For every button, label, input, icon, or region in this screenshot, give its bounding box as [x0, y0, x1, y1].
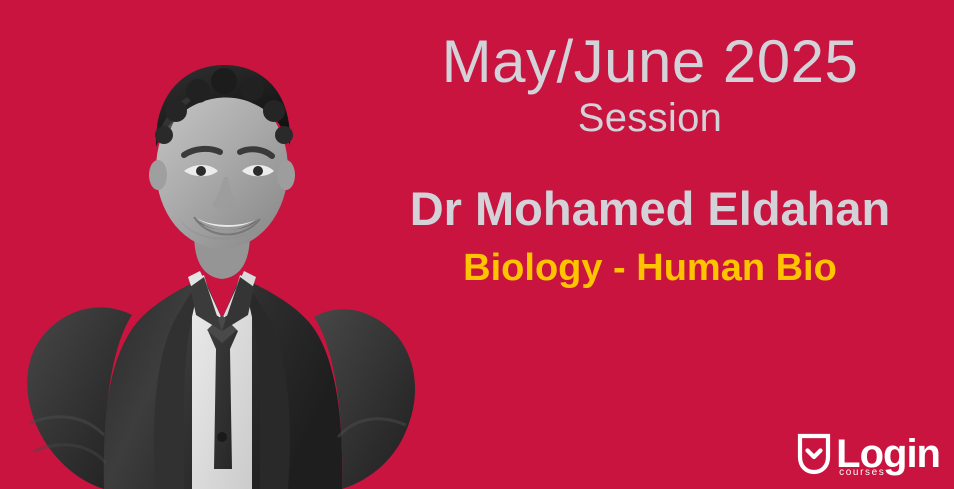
login-courses-logo[interactable]: Login courses	[797, 433, 940, 475]
teacher-subject: Biology - Human Bio	[350, 247, 950, 291]
logo-tagline-text: courses	[839, 468, 885, 478]
banner-text-block: May/June 2025 Session Dr Mohamed Eldahan…	[350, 30, 950, 290]
logo-wordmark: Login courses	[836, 435, 940, 473]
session-banner: May/June 2025 Session Dr Mohamed Eldahan…	[0, 0, 954, 489]
session-subtitle: Session	[350, 95, 950, 141]
session-title: May/June 2025	[350, 30, 950, 93]
teacher-name: Dr Mohamed Eldahan	[350, 183, 950, 235]
shield-chevron-icon	[797, 433, 831, 475]
